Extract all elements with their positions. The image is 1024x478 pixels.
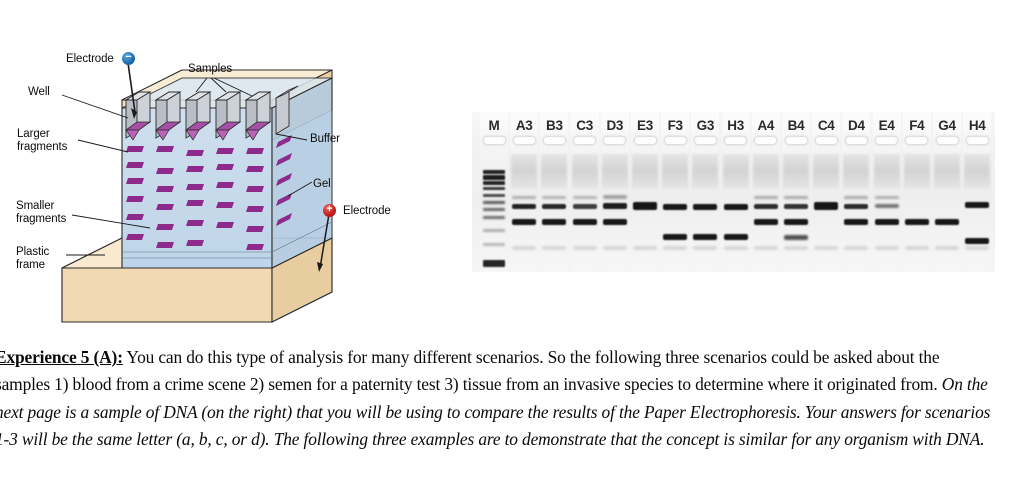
page-root: Electrode − Well Larger fragments Smalle… [0,0,1024,478]
dna-band [663,234,687,240]
lane-smear [632,154,658,188]
body-paragraph: Experience 5 (A): You can do this type o… [0,344,995,454]
dna-band [844,219,868,225]
gel-well [695,137,716,144]
dna-band [784,219,808,225]
paragraph-text-roman: You can do this type of analysis for man… [0,347,942,394]
gel-lane-b4 [782,112,810,272]
dna-band [693,234,717,240]
dna-band [542,196,566,199]
dna-band [512,219,536,225]
dna-band [814,202,838,210]
lane-smear [572,154,598,188]
lane-ghost-band [633,246,657,250]
lane-smear [511,154,537,188]
dna-band [542,219,566,225]
gel-lane-e4 [873,112,901,272]
gel-lane-d3 [601,112,629,272]
gel-lane-label-c4: C4 [812,118,840,133]
gel-well [876,137,897,144]
lane-smear [783,154,809,188]
label-smaller-fragments: Smaller fragments [16,200,66,225]
minus-glyph: − [125,52,131,63]
dna-band [603,203,627,209]
lane-ghost-band [844,246,868,250]
label-well: Well [28,86,50,99]
gel-well [755,137,776,144]
gel-electrophoresis-diagram: Electrode − Well Larger fragments Smalle… [0,0,430,335]
gel-lane-label-d3: D3 [601,118,629,133]
lane-ghost-band [814,246,838,250]
dna-band [905,219,929,225]
dna-band [754,219,778,225]
dna-band [573,196,597,199]
gel-lane-label-e3: E3 [631,118,659,133]
lane-ghost-band [935,246,959,250]
dna-band [935,219,959,225]
gel-lane-c3 [571,112,599,272]
gel-lane-label-h3: H3 [722,118,750,133]
gel-lane-label-g4: G4 [933,118,961,133]
dna-band [633,202,657,210]
dna-band [875,219,899,225]
lane-ghost-band [724,246,748,250]
gel-lane-h3 [722,112,750,272]
dna-band [754,196,778,199]
lane-smear [813,154,839,188]
lane-ghost-band [784,246,808,250]
agarose-gel-photo: MA3B3C3D3E3F3G3H3A4B4C4D4E4F4G4H4 [472,112,995,272]
gel-lane-label-a3: A3 [510,118,538,133]
gel-lane-label-f3: F3 [661,118,689,133]
dna-band [965,202,989,208]
dna-band [754,204,778,209]
gel-lane-a3 [510,112,538,272]
dna-band [663,204,687,210]
lane-smear [692,154,718,188]
label-buffer: Buffer [310,133,340,146]
ladder-rung [483,216,505,219]
ladder-rung [483,208,505,211]
lane-ghost-band [965,246,989,250]
ladder-rung [483,187,505,190]
dna-band [724,234,748,240]
dna-band [784,196,808,199]
gel-well [635,137,656,144]
dna-band [603,195,627,199]
dna-band [542,204,566,209]
label-samples: Samples [188,63,232,76]
gel-lane-label-e4: E4 [873,118,901,133]
ladder-rung [483,229,505,232]
gel-lane-label-m: M [480,118,508,133]
gel-lane-c4 [812,112,840,272]
plus-glyph: + [326,204,332,215]
dna-band [965,238,989,244]
dna-band [724,204,748,210]
lane-smear [753,154,779,188]
ladder-rung [483,243,505,246]
ladder-rung [483,181,505,185]
ladder-rung [483,201,505,204]
dna-band [573,204,597,209]
apparatus-svg [0,0,430,335]
gel-lane-label-g3: G3 [691,118,719,133]
gel-lane-label-h4: H4 [963,118,991,133]
gel-well [604,137,625,144]
dna-band [844,204,868,209]
ladder-rung [483,260,505,267]
gel-well [786,137,807,144]
gel-well [484,137,505,144]
gel-well [937,137,958,144]
gel-lane-f4 [903,112,931,272]
dna-band [844,196,868,199]
gel-lane-label-c3: C3 [571,118,599,133]
lane-smear [602,154,628,188]
label-gel: Gel [313,178,331,191]
ladder-rung [483,194,505,197]
gel-lane-label-a4: A4 [752,118,780,133]
dna-band [512,204,536,209]
dna-band [875,196,899,199]
gel-lane-a4 [752,112,780,272]
gel-lane-g3 [691,112,719,272]
ladder-rung [483,170,505,174]
ladder-rung [483,175,505,180]
lane-ghost-band [905,246,929,250]
gel-lanes-container: MA3B3C3D3E3F3G3H3A4B4C4D4E4F4G4H4 [472,112,995,272]
dna-band [784,204,808,209]
label-larger-fragments: Larger fragments [17,128,67,153]
gel-well [665,137,686,144]
gel-lane-h4 [963,112,991,272]
lane-smear [662,154,688,188]
lane-smear [874,154,900,188]
label-electrode-positive: Electrode [343,205,391,218]
lane-ghost-band [573,246,597,250]
gel-lane-label-f4: F4 [903,118,931,133]
lane-ghost-band [875,246,899,250]
paragraph-heading: Experience 5 (A): [0,347,123,367]
gel-lane-b3 [540,112,568,272]
label-plastic-frame: Plastic frame [16,246,49,271]
gel-well [906,137,927,144]
lane-smear [843,154,869,188]
gel-lane-e3 [631,112,659,272]
electrode-positive-icon: + [323,204,336,217]
gel-lane-label-b3: B3 [540,118,568,133]
gel-well [574,137,595,144]
gel-lane-g4 [933,112,961,272]
electrode-negative-icon: − [122,52,135,65]
gel-lane-d4 [842,112,870,272]
gel-well [816,137,837,144]
lane-ghost-band [542,246,566,250]
dna-band [784,235,808,240]
lane-smear [904,154,930,188]
dna-band [603,219,627,225]
lane-smear [964,154,990,188]
dna-band [693,204,717,210]
label-electrode-negative: Electrode [66,53,114,66]
gel-well [514,137,535,144]
gel-lane-label-d4: D4 [842,118,870,133]
lane-ghost-band [663,246,687,250]
gel-well [544,137,565,144]
lane-ghost-band [754,246,778,250]
gel-lane-f3 [661,112,689,272]
dna-band [512,196,536,199]
lane-smear [541,154,567,188]
lane-smear [723,154,749,188]
gel-well [846,137,867,144]
dna-band [573,219,597,225]
lane-ghost-band [512,246,536,250]
lane-ghost-band [603,246,627,250]
gel-well [967,137,988,144]
lane-ghost-band [693,246,717,250]
gel-lane-m [480,112,508,272]
gel-well [725,137,746,144]
dna-band [875,204,899,208]
gel-lane-label-b4: B4 [782,118,810,133]
lane-smear [934,154,960,188]
